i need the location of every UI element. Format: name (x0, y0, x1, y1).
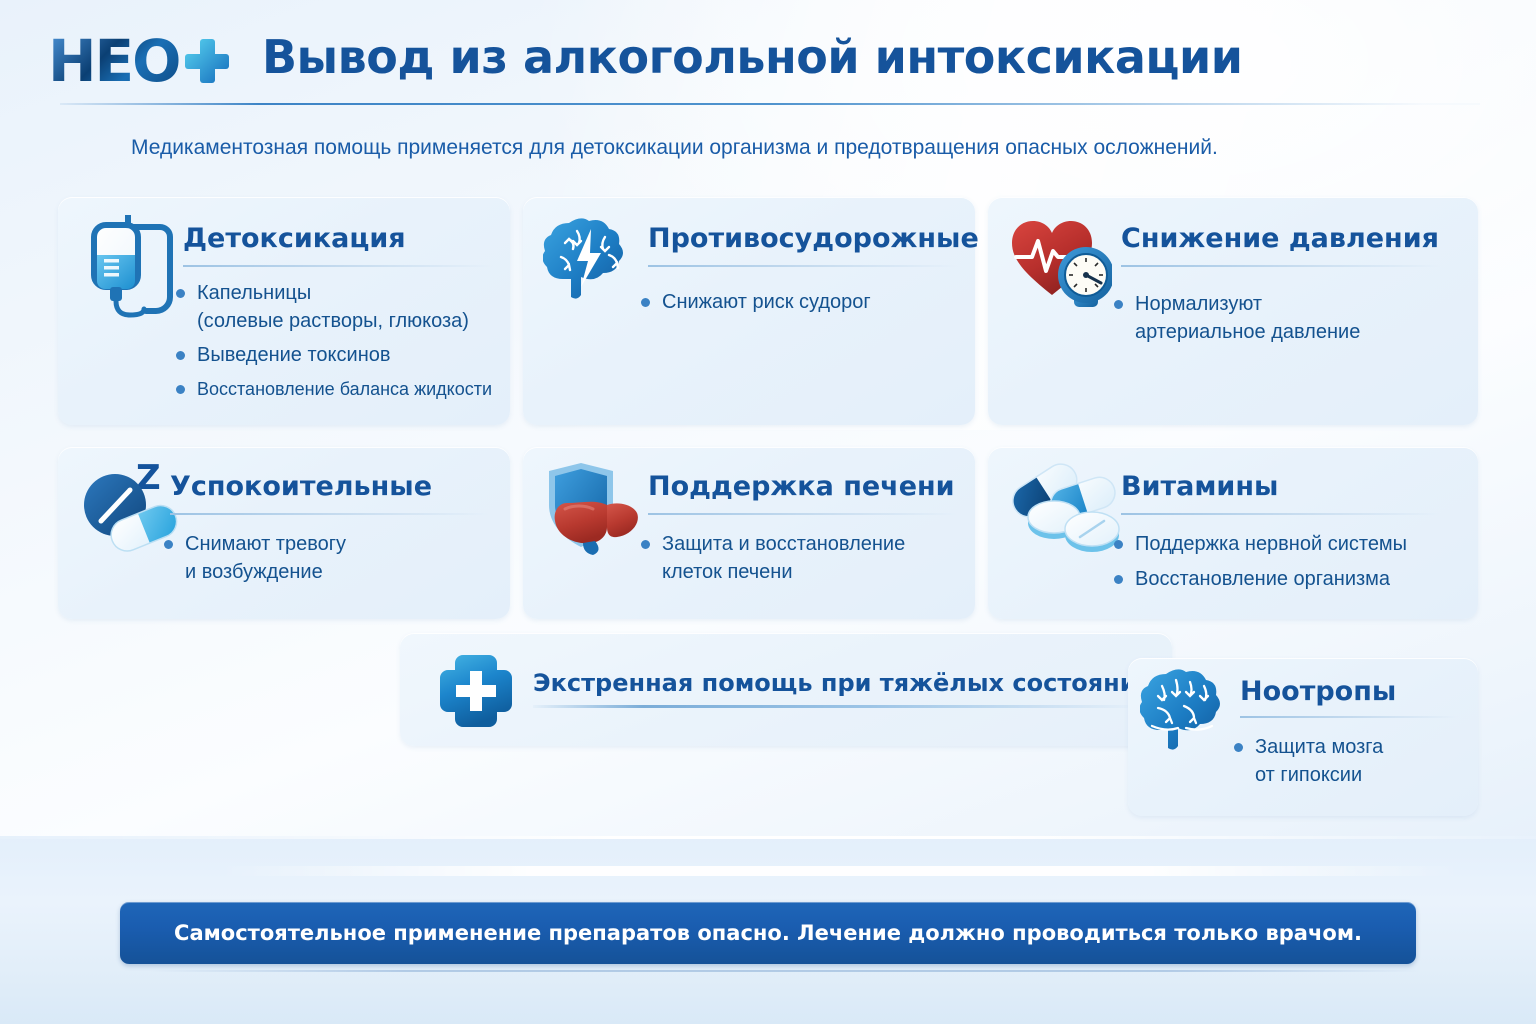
bullet-dot (176, 289, 185, 298)
card-title-divider (170, 513, 490, 515)
bottom-divider-line (150, 970, 1420, 972)
card-title-divider (648, 513, 958, 515)
liver-shield-icon (537, 459, 649, 559)
card-anticonvulsants[interactable]: Противосудорожные Снижают риск судорог (523, 197, 975, 425)
card-sedatives[interactable]: Z Успокоительные Снимают тревогу и возбу… (58, 447, 510, 619)
card-bullets: Капельницы (солевые растворы, глюкоза) В… (176, 280, 496, 409)
card-blood-pressure[interactable]: Снижение давления Нормализуют артериальн… (988, 197, 1478, 425)
page-subtitle: Медикаментозная помощь применяется для д… (131, 136, 1218, 160)
card-bullets: Защита и восстановление клеток печени (641, 531, 961, 593)
emergency-banner[interactable]: Экстренная помощь при тяжёлых состояниях (400, 633, 1172, 746)
list-item: Снижают риск судорог (641, 289, 961, 317)
card-liver-support[interactable]: Поддержка печени Защита и восстановление… (523, 447, 975, 619)
list-item: Восстановление организма (1114, 566, 1459, 594)
emergency-text: Экстренная помощь при тяжёлых состояниях (533, 669, 1167, 697)
card-title: Витамины (1121, 471, 1278, 502)
emergency-divider (533, 705, 1143, 708)
list-item: Восстановление баланса жидкости (176, 377, 496, 402)
brain-lightning-icon (543, 213, 635, 309)
card-title-divider (183, 265, 493, 267)
plus-icon (185, 39, 229, 83)
bullet-text: Снимают тревогу и возбуждение (185, 531, 346, 586)
bullet-text: Капельницы (солевые растворы, глюкоза) (197, 280, 469, 335)
card-title-divider (648, 265, 958, 267)
page-title: Вывод из алкогольной интоксикации (262, 30, 1242, 84)
bullet-dot (176, 351, 185, 360)
bullet-dot (176, 385, 185, 394)
card-title-divider (1240, 716, 1458, 718)
iv-drip-icon (82, 215, 178, 321)
list-item: Защита мозга от гипоксии (1234, 734, 1464, 789)
list-item: Защита и восстановление клеток печени (641, 531, 961, 586)
disclaimer-text: Самостоятельное применение препаратов оп… (174, 921, 1362, 945)
infographic-page: HEO Вывод из алкогольной интоксикации Ме… (0, 0, 1536, 1024)
bullet-dot (1234, 743, 1243, 752)
card-bullets: Защита мозга от гипоксии (1234, 734, 1464, 796)
bullet-text: Восстановление организма (1135, 566, 1390, 594)
list-item: Нормализуют артериальное давление (1114, 291, 1454, 346)
list-item: Поддержка нервной системы (1114, 531, 1459, 559)
card-nootropics[interactable]: Ноотропы Защита мозга от гипоксии (1128, 658, 1478, 816)
bullet-dot (164, 540, 173, 549)
heart-pressure-gauge-icon (1008, 213, 1112, 313)
bottom-highlight-streak (220, 866, 1460, 876)
card-title: Противосудорожные (648, 223, 979, 254)
card-title: Поддержка печени (648, 471, 955, 502)
bullet-text: Нормализуют артериальное давление (1135, 291, 1360, 346)
card-bullets: Нормализуют артериальное давление (1114, 291, 1454, 353)
header-divider (60, 103, 1480, 105)
medical-cross-icon (436, 651, 516, 731)
brand-logo-text: HEO (48, 32, 179, 90)
brand-logo: HEO (48, 32, 229, 90)
card-title: Успокоительные (170, 471, 432, 502)
bullet-dot (1114, 300, 1123, 309)
bullet-dot (1114, 540, 1123, 549)
header: HEO Вывод из алкогольной интоксикации Ме… (0, 0, 1536, 112)
bullet-text: Выведение токсинов (197, 342, 391, 370)
card-vitamins[interactable]: Витамины Поддержка нервной системы Восст… (988, 447, 1478, 619)
card-title-divider (1121, 513, 1441, 515)
card-title: Снижение давления (1121, 223, 1439, 254)
bullet-text: Защита мозга от гипоксии (1255, 734, 1383, 789)
brain-icon (1140, 664, 1232, 760)
bullet-dot (641, 540, 650, 549)
list-item: Капельницы (солевые растворы, глюкоза) (176, 280, 496, 335)
card-title-divider (1121, 265, 1441, 267)
list-item: Выведение токсинов (176, 342, 496, 370)
bullet-dot (1114, 575, 1123, 584)
card-detoxication[interactable]: Детоксикация Капельницы (солевые раствор… (58, 197, 510, 425)
card-bullets: Снижают риск судорог (641, 289, 961, 324)
bullet-text: Восстановление баланса жидкости (197, 377, 492, 402)
card-bullets: Снимают тревогу и возбуждение (164, 531, 494, 593)
card-bullets: Поддержка нервной системы Восстановление… (1114, 531, 1459, 600)
card-title: Детоксикация (183, 223, 406, 254)
list-item: Снимают тревогу и возбуждение (164, 531, 494, 586)
disclaimer-banner: Самостоятельное применение препаратов оп… (120, 902, 1416, 964)
bullet-text: Защита и восстановление клеток печени (662, 531, 905, 586)
vitamin-pills-icon (996, 457, 1120, 557)
card-title: Ноотропы (1240, 676, 1396, 707)
bullet-text: Снижают риск судорог (662, 289, 871, 317)
bullet-dot (641, 298, 650, 307)
bullet-text: Поддержка нервной системы (1135, 531, 1407, 559)
